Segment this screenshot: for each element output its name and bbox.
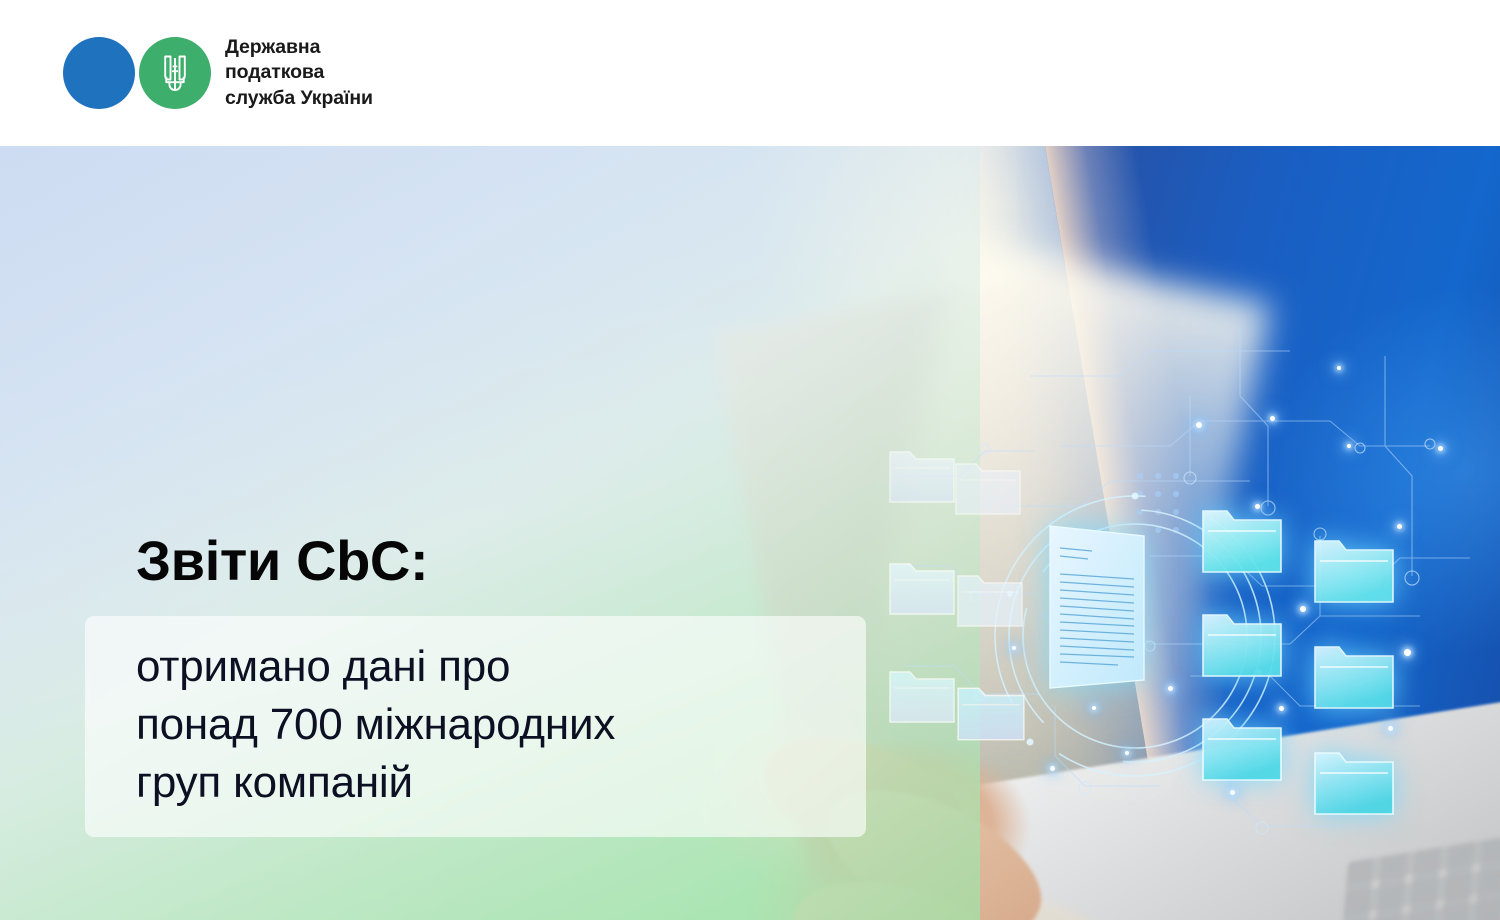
sparkle-icon [1397,524,1402,529]
folder-icon [1308,640,1400,716]
sparkle-icon [1388,726,1393,731]
sparkle-icon [1092,706,1096,710]
poster-canvas: Державна податкова служба України [0,0,1500,920]
folder-icon [950,458,1026,520]
hero-banner: Звіти CbC: отримано дані про понад 700 м… [0,146,1500,920]
sparkle-icon [1279,706,1284,711]
logo-marks [63,37,211,109]
sparkle-icon [1125,751,1129,755]
ukraine-trident-icon [139,37,211,109]
folder-icon [884,666,960,728]
sparkle-icon [1347,444,1351,448]
blue-circle-icon [63,37,135,109]
sparkle-icon [1050,766,1055,771]
sparkle-icon [1270,416,1275,421]
folder-icon [884,446,960,508]
organization-logo[interactable]: Державна податкова служба України [63,35,373,112]
page-title: Звіти CbC: [136,531,428,591]
sparkle-icon [1168,686,1173,691]
folder-icon [1196,712,1288,788]
page-subtitle: отримано дані про понад 700 міжнародних … [136,638,866,812]
site-header: Державна податкова служба України [0,0,1500,146]
sparkle-icon [1255,504,1260,509]
sparkle-icon [1337,366,1341,370]
organization-name: Державна податкова служба України [225,35,373,112]
sparkle-icon [1404,649,1411,656]
sparkle-icon [1438,446,1443,451]
document-icon [1048,522,1152,697]
folder-icon [952,682,1030,746]
folder-icon [952,570,1028,632]
folder-icon [1308,746,1400,822]
sparkle-icon [1012,646,1016,650]
sparkle-icon [1230,790,1235,795]
folder-icon [1196,504,1288,580]
folder-icon [1196,608,1288,684]
folder-icon [884,558,960,620]
sparkle-icon [1300,606,1306,612]
folder-icon [1308,534,1400,610]
sparkle-icon [1196,422,1202,428]
